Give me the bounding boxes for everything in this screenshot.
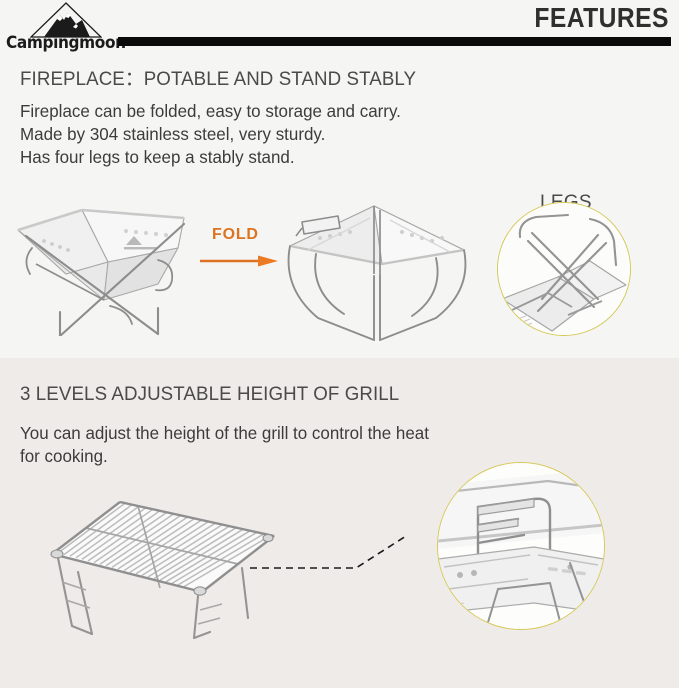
header-rule bbox=[118, 37, 671, 46]
body-line: You can adjust the height of the grill t… bbox=[20, 422, 429, 445]
body-line: Fireplace can be folded, easy to storage… bbox=[20, 100, 401, 123]
body-line: for cooking. bbox=[20, 445, 429, 468]
section-heading-fireplace: FIREPLACE：POTABLE AND STAND STABLY bbox=[20, 62, 416, 91]
brand-logo: Campingmoon bbox=[6, 2, 118, 52]
section-body-grill: You can adjust the height of the grill t… bbox=[20, 422, 429, 468]
brand-wordmark: Campingmoon bbox=[6, 34, 110, 52]
fire-pit-open-illustration bbox=[8, 188, 208, 336]
section-body-fireplace: Fireplace can be folded, easy to storage… bbox=[20, 100, 401, 169]
legs-detail-zoom-illustration bbox=[497, 202, 631, 336]
section-heading-grill: 3 LEVELS ADJUSTABLE HEIGHT OF GRILL bbox=[20, 383, 399, 406]
grill-table-illustration bbox=[42, 492, 342, 640]
body-line: Made by 304 stainless steel, very sturdy… bbox=[20, 123, 401, 146]
page-title: FEATURES bbox=[535, 2, 669, 34]
right-arrow-icon bbox=[200, 254, 278, 266]
page-header: Campingmoon FEATURES bbox=[0, 0, 679, 56]
height-bracket-zoom-illustration bbox=[437, 462, 605, 630]
fire-pit-folded-illustration bbox=[278, 192, 474, 342]
fold-label: FOLD bbox=[212, 226, 259, 244]
body-line: Has four legs to keep a stably stand. bbox=[20, 146, 401, 169]
